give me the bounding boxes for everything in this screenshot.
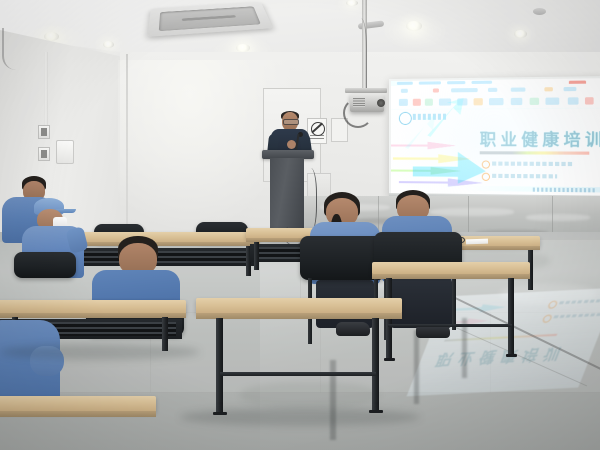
- wall-cable: [2, 28, 26, 70]
- desk-surface: [0, 396, 156, 412]
- ribbon-icon[interactable]: [474, 98, 483, 105]
- wall-dispenser: [56, 140, 74, 164]
- wall-corner-seam: [126, 54, 128, 250]
- desk-shadow: [0, 344, 200, 360]
- training-room-photo: 职业健康培训: [0, 0, 600, 450]
- podium-body: [270, 158, 304, 234]
- projector-cable-loop: [343, 98, 373, 128]
- desk-brace: [388, 324, 512, 327]
- desk-edge: [0, 411, 156, 417]
- ribbon-icon[interactable]: [488, 88, 497, 92]
- ribbon-icon[interactable]: [451, 88, 478, 92]
- ribbon-icon[interactable]: [489, 98, 504, 105]
- slide-title: 职业健康培训: [480, 125, 600, 150]
- desk-brace: [220, 372, 376, 376]
- ribbon-icon[interactable]: [511, 98, 523, 105]
- paper-sheet-on-desk: [466, 239, 488, 245]
- projector-cable-upper: [352, 18, 367, 92]
- desk-shadow: [180, 408, 420, 426]
- ribbon-icon[interactable]: [511, 87, 526, 91]
- ribbon-icon[interactable]: [544, 87, 552, 91]
- light-switch-icon[interactable]: [38, 147, 50, 161]
- projector-mount-plate: [345, 88, 387, 93]
- downlight-icon: [44, 32, 59, 41]
- wall-conduit: [44, 52, 48, 128]
- ac-core-grille: [182, 15, 236, 21]
- ribbon-tab[interactable]: [397, 82, 413, 85]
- ribbon-tab[interactable]: [419, 81, 441, 84]
- status-bar-items: [533, 188, 595, 193]
- slide-title-underline: [480, 151, 590, 154]
- projector-lens-icon: [377, 99, 385, 107]
- reflected-bullet-text: [559, 298, 600, 304]
- desk-foot: [506, 354, 517, 357]
- desk-surface: [0, 300, 186, 314]
- slide-bullet-icon: [482, 173, 490, 181]
- ribbon-tab[interactable]: [447, 81, 465, 84]
- desk-row-closest-left: [0, 396, 156, 450]
- ribbon-icon[interactable]: [399, 99, 408, 106]
- ribbon-icon[interactable]: [401, 89, 408, 93]
- downlight-icon: [346, 0, 358, 6]
- chair-back: [14, 252, 76, 278]
- ribbon-icon[interactable]: [564, 87, 577, 91]
- slide-bullet-text: [492, 162, 574, 167]
- projection-screen: 职业健康培训: [389, 76, 600, 201]
- desk-surface: [196, 298, 402, 314]
- reflected-bullet-text: [553, 313, 600, 318]
- reflected-bullet-icon: [542, 314, 553, 322]
- stone-vein: [526, 214, 590, 221]
- desk-edge: [0, 313, 186, 318]
- ribbon-tab[interactable]: [472, 81, 493, 84]
- slide-bullet-text: [492, 174, 557, 179]
- ribbon-icon[interactable]: [413, 99, 421, 106]
- ceiling-speaker-icon: [533, 8, 546, 15]
- desk-leg: [254, 242, 259, 270]
- presentation-slide: 职业健康培训: [391, 78, 600, 196]
- reflected-bullet-icon: [547, 300, 558, 308]
- desk-edge: [372, 274, 530, 279]
- downlight-icon: [103, 41, 114, 48]
- ribbon-icon[interactable]: [433, 88, 439, 92]
- switch-rocker: [41, 128, 47, 136]
- desk-leg: [508, 278, 514, 356]
- ac-inner-panel: [159, 6, 261, 31]
- desk-leg: [372, 318, 379, 412]
- switch-rocker: [41, 150, 47, 158]
- ribbon-row-lower: [391, 94, 600, 110]
- ribbon-icon[interactable]: [585, 97, 594, 104]
- desk-leg: [216, 318, 223, 414]
- downlight-icon: [514, 30, 527, 38]
- desk-right-near: [196, 298, 402, 416]
- arrow-graphic-outline: [403, 115, 437, 149]
- ribbon-icon[interactable]: [568, 97, 579, 104]
- light-switch-icon[interactable]: [38, 125, 50, 139]
- downlight-icon: [406, 21, 422, 31]
- slide-bullet-icon: [482, 160, 490, 168]
- downlight-icon: [236, 44, 250, 52]
- sign-text-lines: [310, 135, 324, 141]
- ribbon-icon[interactable]: [530, 98, 539, 105]
- glasses-icon: [283, 119, 299, 125]
- ribbon-icon[interactable]: [545, 97, 559, 104]
